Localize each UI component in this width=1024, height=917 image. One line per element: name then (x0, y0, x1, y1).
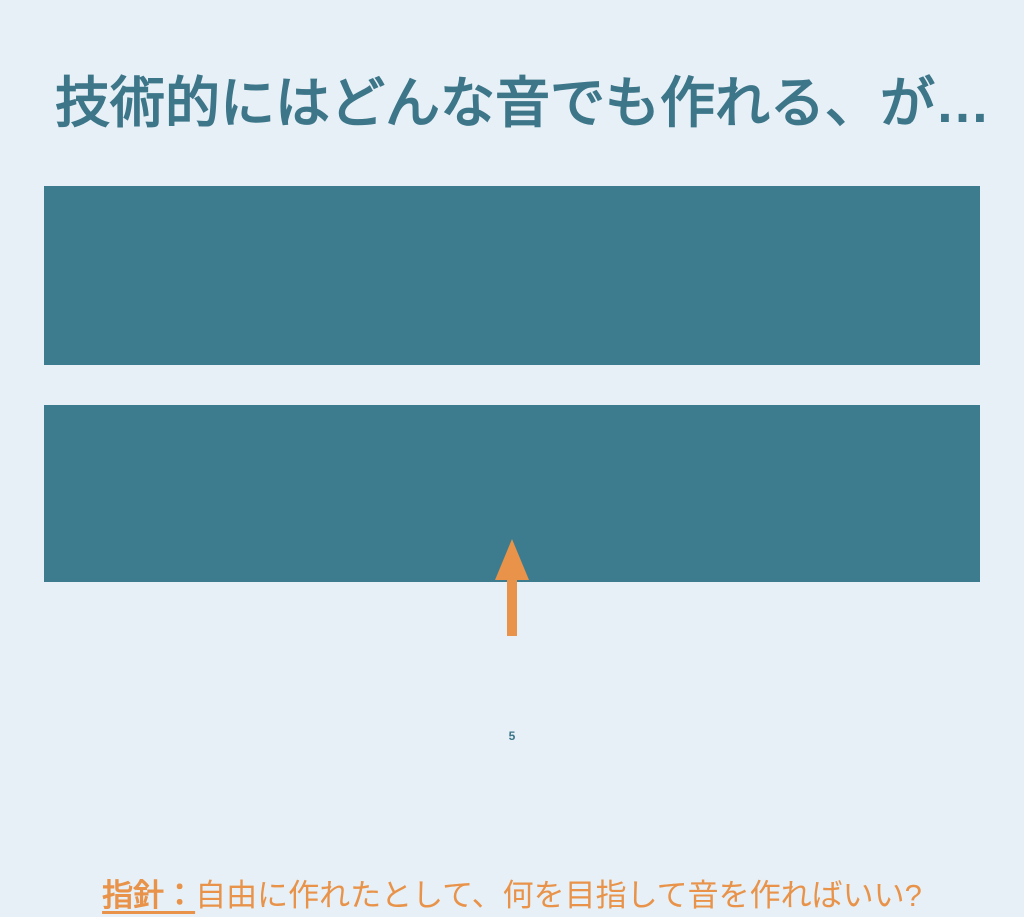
band-guideline-text: 指針：自由に作れたとして、何を目指して音を作ればいい? (44, 875, 980, 917)
page-number: 5 (0, 729, 1024, 743)
content-band-means: 手段：具体的にどうやって波形を操作すればいい？ (44, 186, 980, 365)
arrow-up-icon (490, 536, 534, 640)
slide-canvas: 技術的にはどんな音でも作れる、が… 手段：具体的にどうやって波形を操作すればいい… (0, 0, 1024, 768)
page-title: 技術的にはどんな音でも作れる、が… (55, 70, 985, 136)
band-guideline-body: 自由に作れたとして、何を目指して音を作ればいい? (195, 878, 922, 913)
band-guideline-label: 指針： (102, 878, 195, 913)
